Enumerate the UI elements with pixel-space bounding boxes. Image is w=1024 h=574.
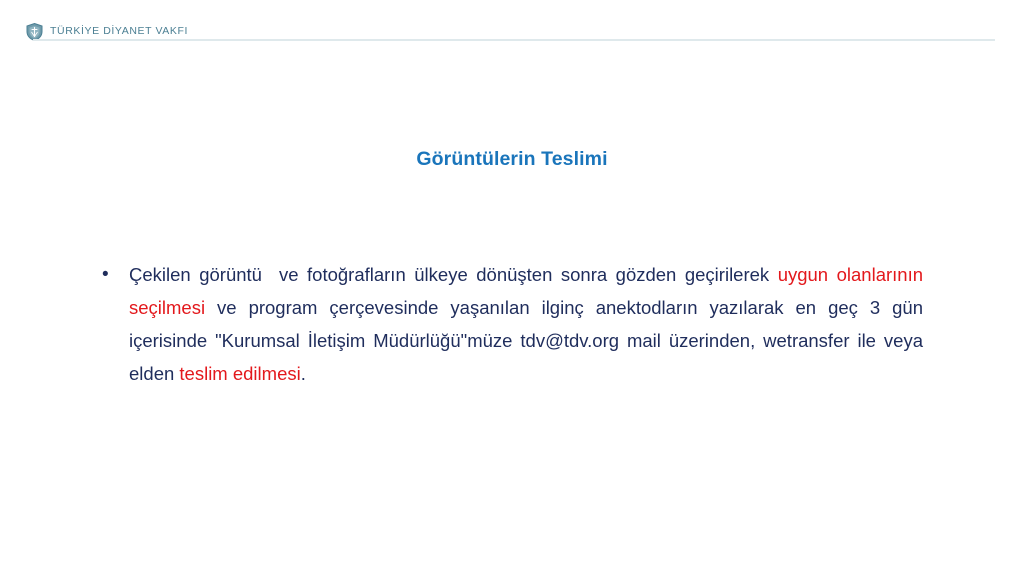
bullet-list-item: • Çekilen görüntü ve fotoğrafların ülkey… — [99, 258, 923, 390]
slide-title: Görüntülerin Teslimi — [0, 148, 1024, 171]
paragraph-segment-4-highlight: teslim edilmesi — [179, 363, 300, 384]
paragraph-segment-1: Çekilen görüntü ve fotoğrafların ülkeye … — [129, 264, 778, 285]
brand-name: TÜRKİYE DİYANET VAKFI — [50, 26, 188, 38]
paragraph-segment-5: . — [301, 363, 306, 384]
bullet-paragraph: Çekilen görüntü ve fotoğrafların ülkeye … — [129, 258, 923, 390]
content-body: • Çekilen görüntü ve fotoğrafların ülkey… — [99, 258, 923, 390]
header-divider-rule — [33, 39, 995, 41]
bullet-marker: • — [99, 258, 129, 291]
slide-header: TÜRKİYE DİYANET VAKFI — [0, 0, 1024, 46]
